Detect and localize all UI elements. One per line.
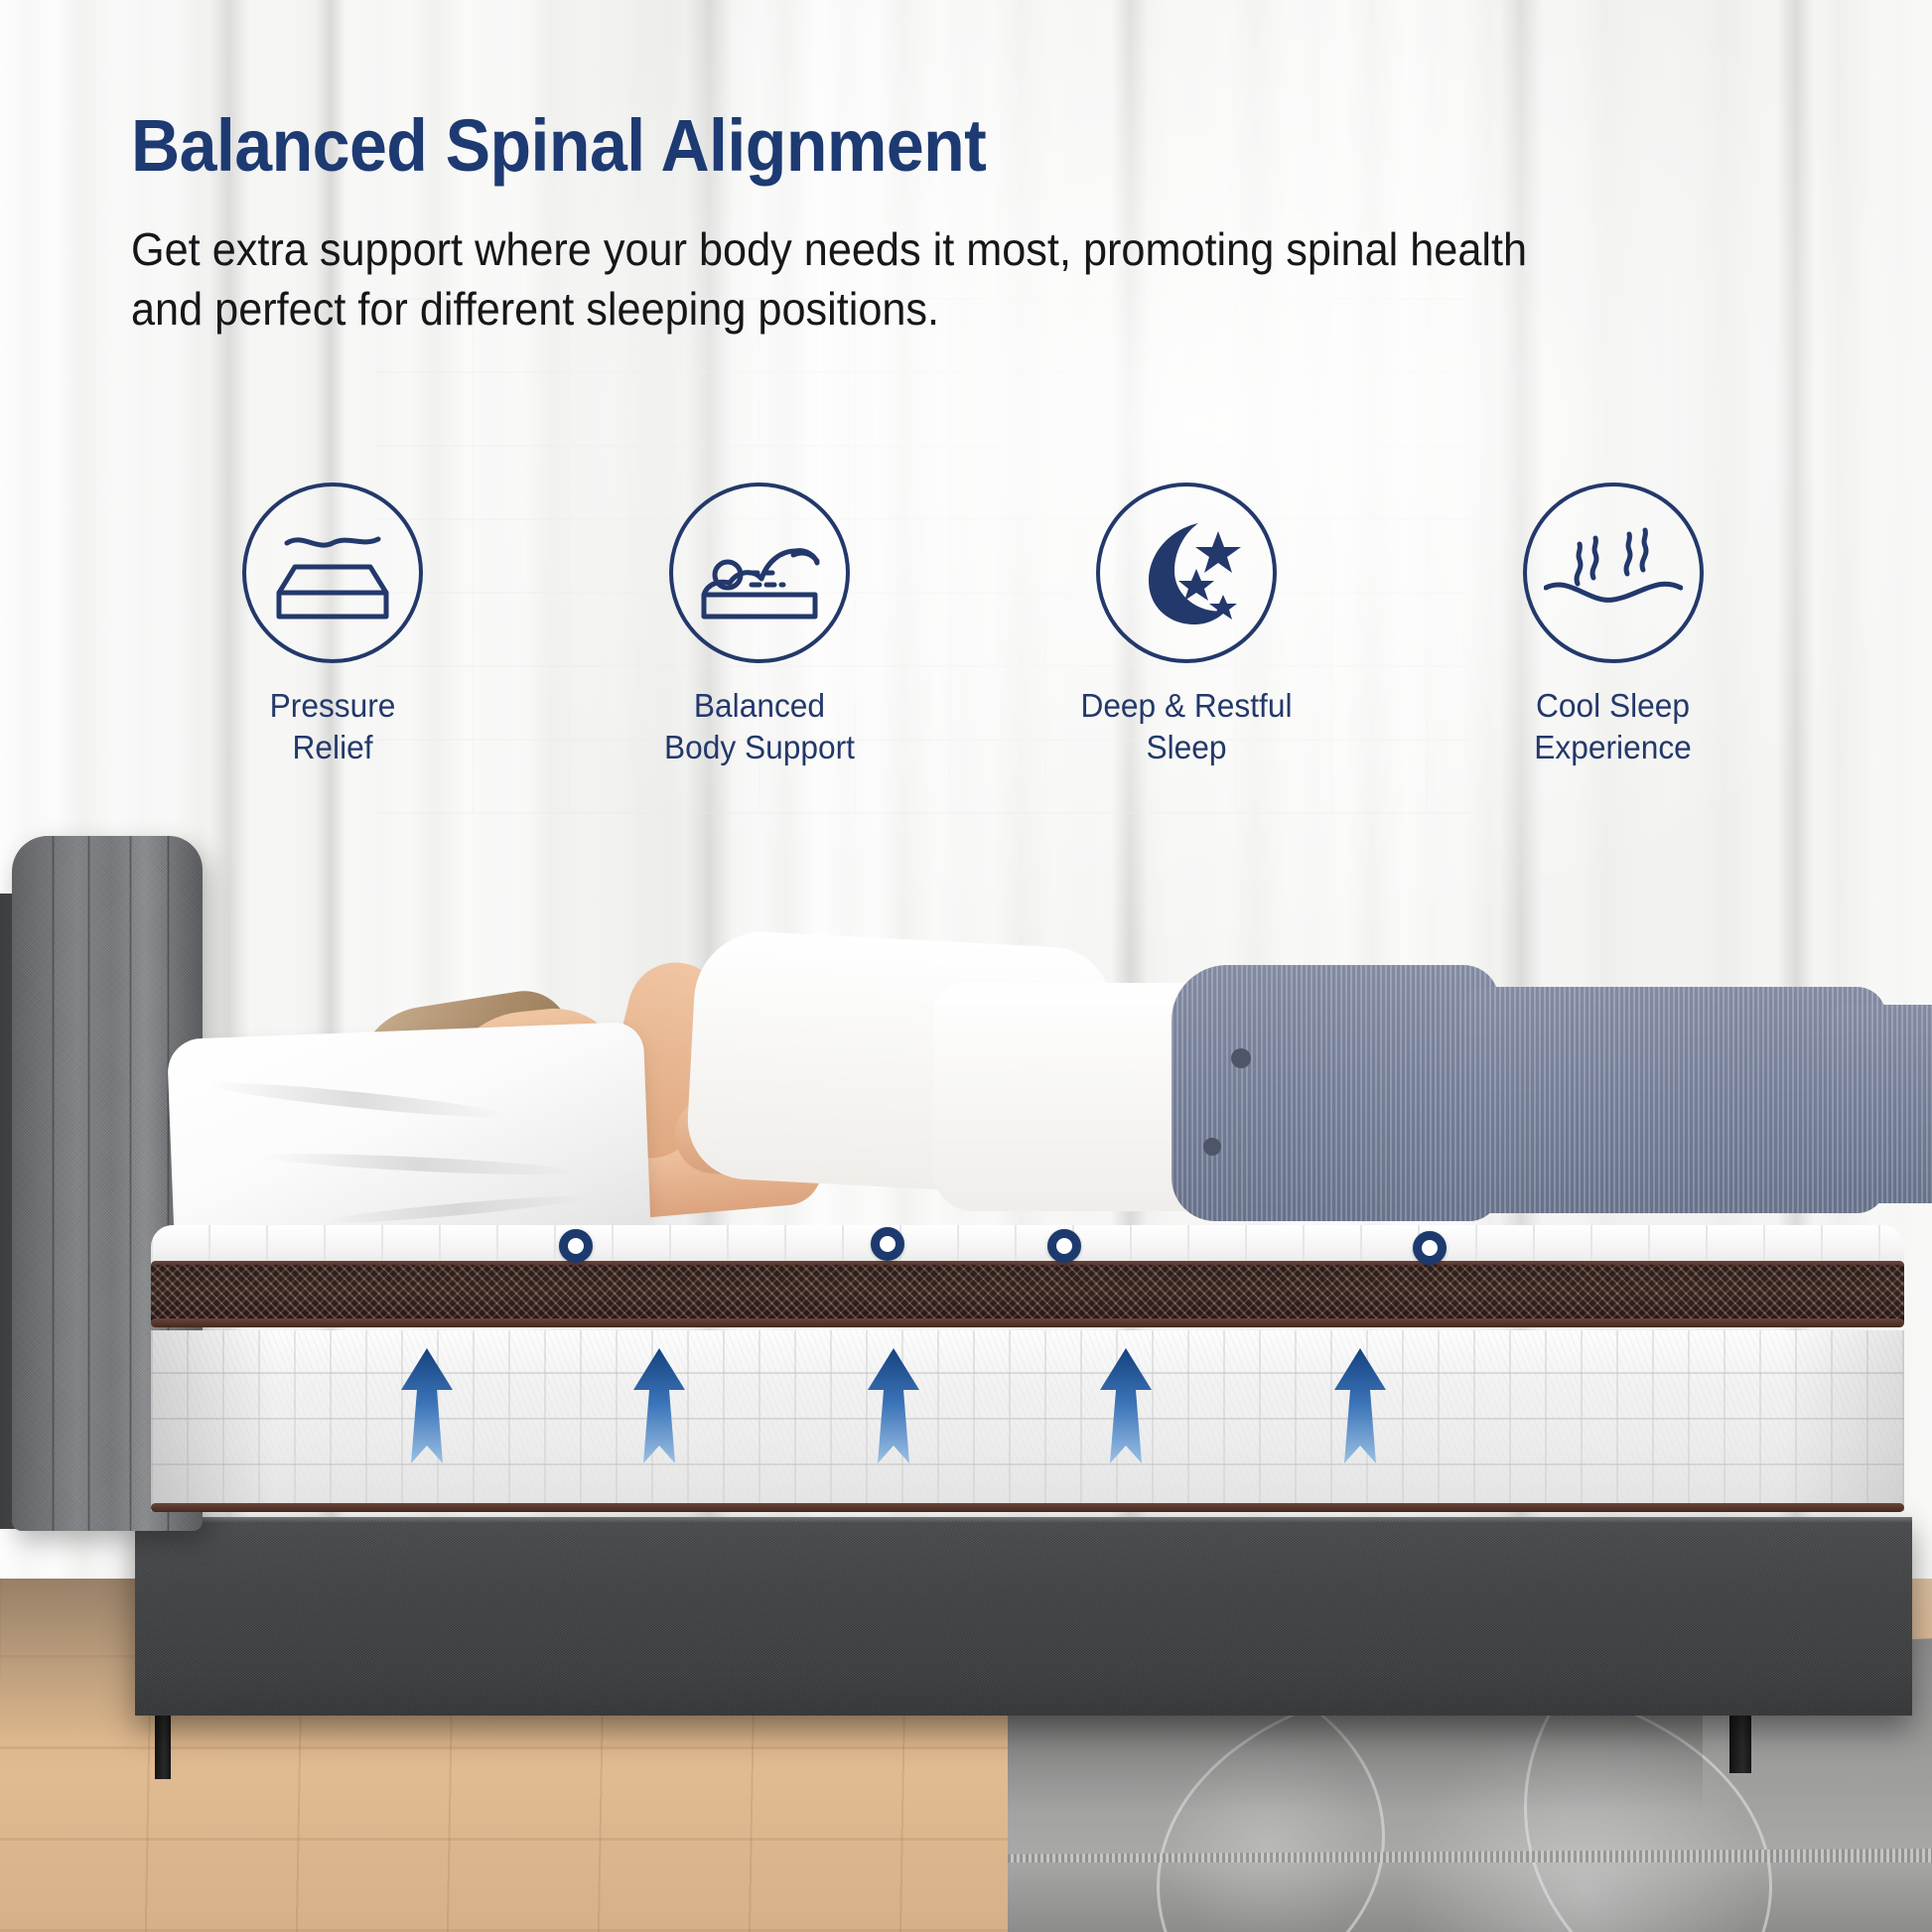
pajama-cuff bbox=[1827, 1005, 1932, 1203]
icon-circle bbox=[669, 483, 850, 663]
pajama-button bbox=[1203, 1138, 1221, 1156]
headboard-channel bbox=[87, 836, 90, 1531]
feature-pressure-relief[interactable]: Pressure Relief bbox=[169, 483, 496, 767]
mattress-wave-icon bbox=[273, 521, 392, 624]
page-title: Balanced Spinal Alignment bbox=[131, 103, 986, 188]
feature-label-line1: Pressure bbox=[270, 685, 396, 727]
body-alignment-icon bbox=[698, 521, 821, 624]
mattress-piping-bottom bbox=[151, 1503, 1904, 1512]
feature-label-line1: Deep & Restful bbox=[1080, 685, 1292, 727]
pajama-button bbox=[1231, 1048, 1251, 1068]
support-arrow bbox=[866, 1346, 921, 1469]
feature-deep-restful-sleep[interactable]: Deep & Restful Sleep bbox=[1023, 483, 1350, 767]
product-feature-image: Balanced Spinal Alignment Get extra supp… bbox=[0, 0, 1932, 1932]
feature-label-line1: Cool Sleep bbox=[1535, 685, 1693, 727]
mattress-piping-mid bbox=[151, 1318, 1904, 1327]
page-subtitle: Get extra support where your body needs … bbox=[131, 220, 1587, 340]
alignment-marker bbox=[1413, 1231, 1447, 1265]
alignment-marker bbox=[1047, 1229, 1081, 1263]
moon-stars-icon bbox=[1127, 515, 1246, 630]
feature-list: Pressure Relief Balanced Body Support bbox=[169, 483, 1777, 780]
feature-label-line2: Relief bbox=[270, 727, 396, 768]
alignment-marker bbox=[559, 1229, 593, 1263]
support-arrow bbox=[1332, 1346, 1388, 1469]
airflow-cool-icon bbox=[1544, 512, 1683, 633]
feature-cool-sleep-experience[interactable]: Cool Sleep Experience bbox=[1449, 483, 1777, 767]
icon-circle bbox=[242, 483, 423, 663]
feature-label-line2: Sleep bbox=[1080, 727, 1292, 768]
icon-circle bbox=[1523, 483, 1704, 663]
feature-label-line2: Experience bbox=[1535, 727, 1693, 768]
feature-label-line2: Body Support bbox=[664, 727, 855, 768]
pajama-leg bbox=[1459, 987, 1886, 1213]
headboard-channel bbox=[52, 836, 55, 1531]
feature-label: Balanced Body Support bbox=[664, 685, 855, 767]
feature-balanced-body-support[interactable]: Balanced Body Support bbox=[596, 483, 923, 767]
feature-label: Pressure Relief bbox=[270, 685, 396, 767]
pillow-crease bbox=[323, 1191, 591, 1227]
alignment-marker bbox=[871, 1227, 904, 1261]
pillow-crease bbox=[261, 1150, 579, 1179]
mattress-mesh-band bbox=[151, 1265, 1904, 1322]
headboard-channel bbox=[129, 836, 132, 1531]
feature-label-line1: Balanced bbox=[664, 685, 855, 727]
icon-circle bbox=[1096, 483, 1277, 663]
pillow-crease bbox=[208, 1077, 506, 1123]
feature-label: Cool Sleep Experience bbox=[1535, 685, 1693, 767]
support-arrow bbox=[399, 1346, 455, 1469]
pajama-hip bbox=[1172, 965, 1499, 1221]
bed-base bbox=[135, 1517, 1912, 1716]
feature-label: Deep & Restful Sleep bbox=[1080, 685, 1292, 767]
mattress-pillow-top bbox=[151, 1225, 1904, 1265]
support-arrow bbox=[1098, 1346, 1154, 1469]
support-arrow bbox=[631, 1346, 687, 1469]
